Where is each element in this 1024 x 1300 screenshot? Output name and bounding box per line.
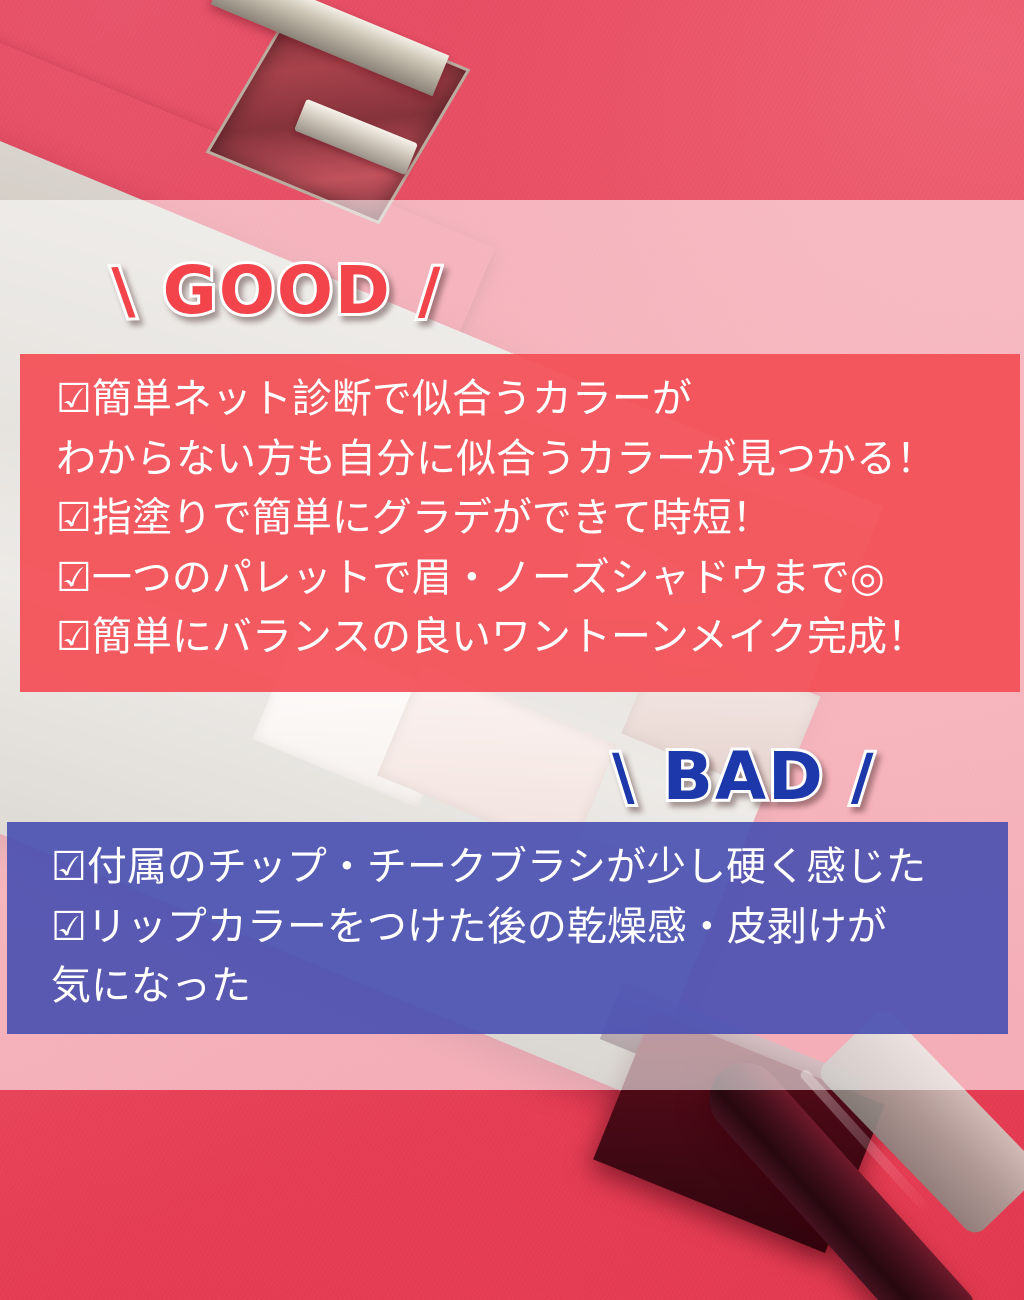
slash-right-icon: / — [418, 254, 443, 327]
heading-good-label: GOOD — [163, 252, 392, 329]
good-line-5: ☑簡単にバランスの良いワントーンメイク完成！ — [56, 608, 1020, 668]
bad-line-3: 気になった — [51, 957, 1008, 1017]
heading-bad: \ BAD / — [612, 738, 875, 815]
bad-points-panel: ☑付属のチップ・チークブラシが少し硬く感じた ☑リップカラーをつけた後の乾燥感・… — [7, 822, 1008, 1034]
bad-line-1: ☑付属のチップ・チークブラシが少し硬く感じた — [51, 838, 1008, 898]
good-line-3: ☑指塗りで簡単にグラデができて時短！ — [56, 489, 1020, 549]
slash-left-icon: \ — [612, 740, 637, 813]
review-slide-canvas: MAQuillAGE \ GOOD / ☑簡単ネット診断で似合うカラーが わから… — [0, 0, 1024, 1300]
good-points-panel: ☑簡単ネット診断で似合うカラーが わからない方も自分に似合うカラーが見つかる！ … — [20, 354, 1020, 692]
good-line-4: ☑一つのパレットで眉・ノーズシャドウまで◎ — [56, 549, 1020, 609]
good-line-2: わからない方も自分に似合うカラーが見つかる！ — [56, 430, 1020, 490]
slash-right-icon: / — [851, 740, 876, 813]
bad-line-2: ☑リップカラーをつけた後の乾燥感・皮剥けが — [51, 898, 1008, 958]
heading-good: \ GOOD / — [112, 252, 442, 329]
heading-bad-label: BAD — [663, 738, 825, 815]
good-line-1: ☑簡単ネット診断で似合うカラーが — [56, 370, 1020, 430]
slash-left-icon: \ — [111, 254, 138, 328]
